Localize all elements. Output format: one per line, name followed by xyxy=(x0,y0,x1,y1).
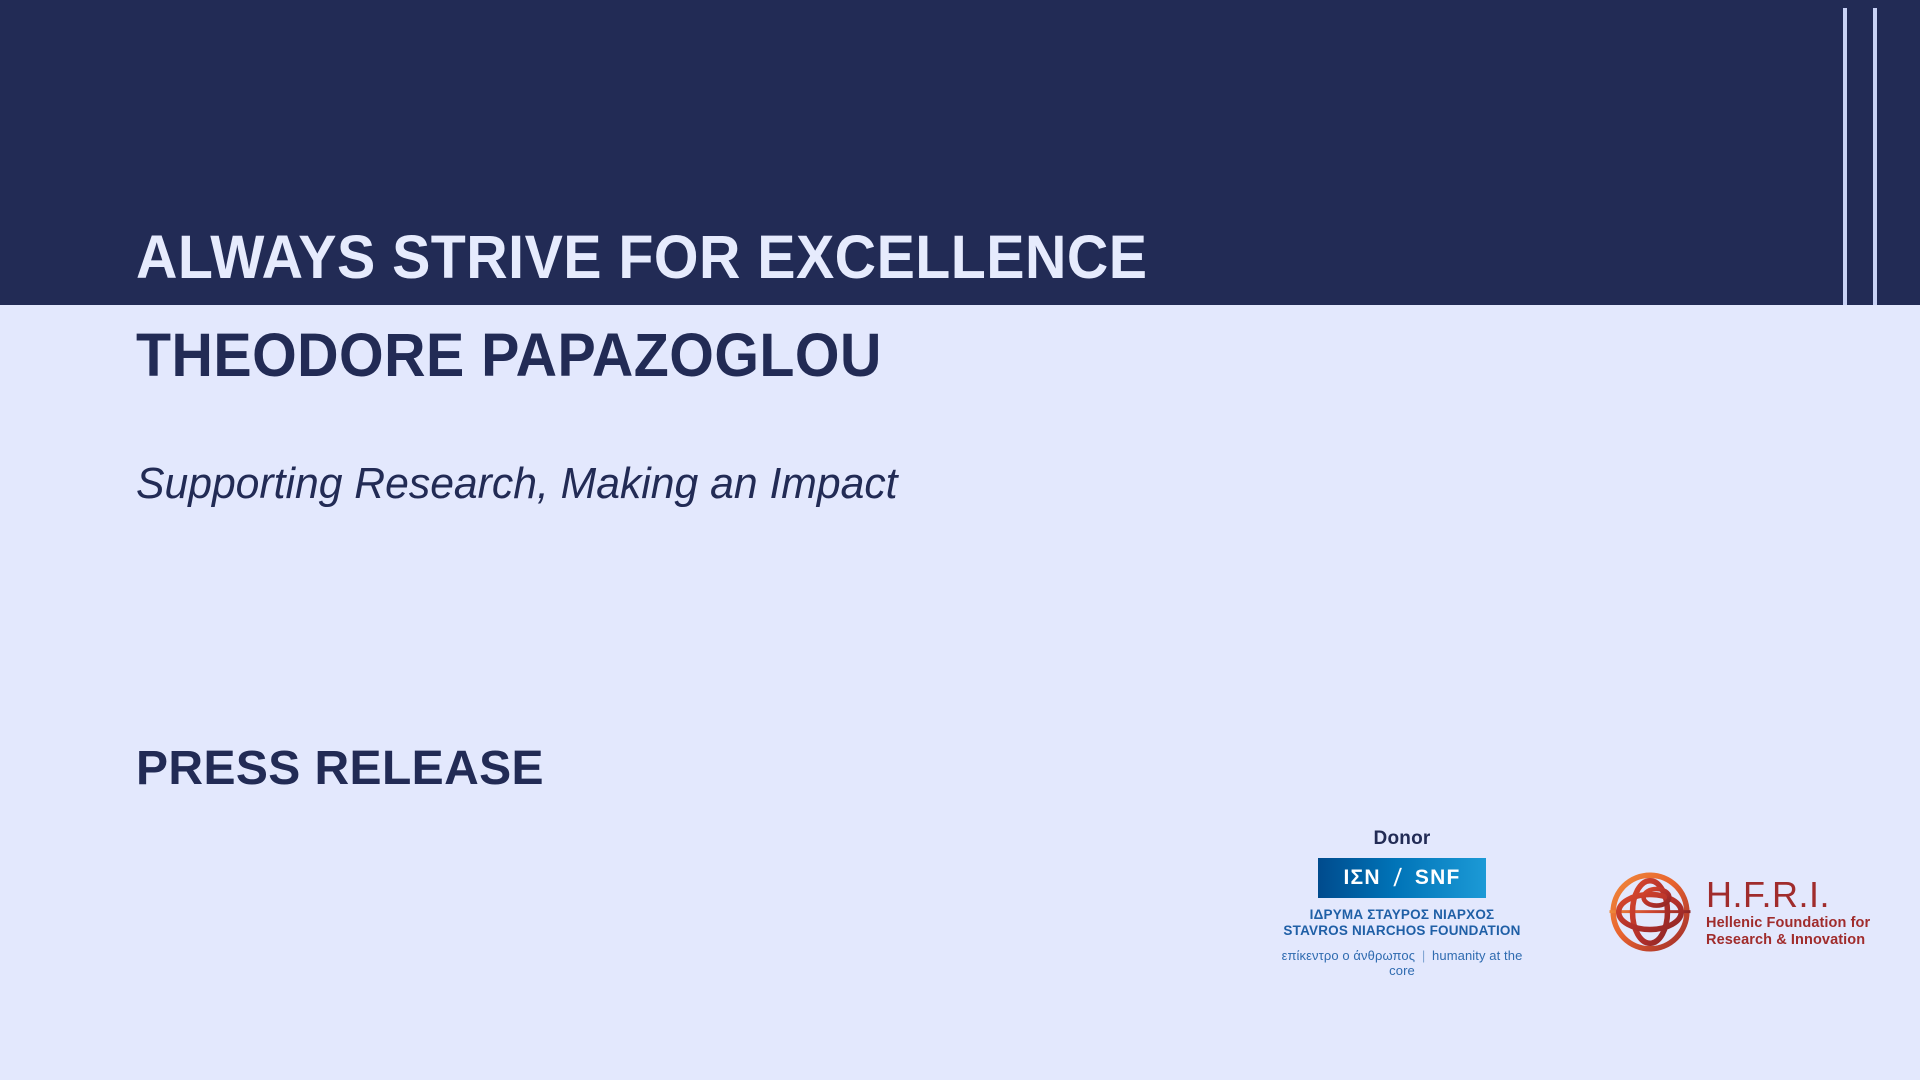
band-rule-second xyxy=(1873,8,1877,305)
page-title-line-2: THEODORE PAPAZOGLOU xyxy=(136,306,1452,404)
hfri-logo-block: H.F.R.I. Hellenic Foundation for Researc… xyxy=(1604,866,1870,958)
snf-badge-slash: / xyxy=(1392,864,1403,893)
hfri-acronym: H.F.R.I. xyxy=(1706,876,1870,914)
page-title: ALWAYS STRIVE FOR EXCELLENCE THEODORE PA… xyxy=(136,208,1536,404)
page-subtitle: Supporting Research, Making an Impact xyxy=(136,459,898,509)
hfri-subtitle: Hellenic Foundation for Research & Innov… xyxy=(1706,915,1870,949)
hfri-subtitle-line-2: Research & Innovation xyxy=(1706,932,1870,949)
globe-emblem-icon xyxy=(1604,866,1696,958)
snf-tagline: επίκεντρο ο άνθρωπος | humanity at the c… xyxy=(1268,948,1536,978)
press-release-slide: ALWAYS STRIVE FOR EXCELLENCE THEODORE PA… xyxy=(0,0,1920,1080)
snf-name-greek: ΙΔΡΥΜΑ ΣΤΑΥΡΟΣ ΝΙΑΡΧΟΣ xyxy=(1268,907,1536,923)
band-rule-first xyxy=(1843,8,1847,305)
snf-badge-greek-text: ΙΣΝ xyxy=(1344,866,1381,890)
snf-tagline-greek: επίκεντρο ο άνθρωπος xyxy=(1282,948,1416,963)
page-title-line-1: ALWAYS STRIVE FOR EXCELLENCE xyxy=(136,208,1452,306)
hfri-subtitle-line-1: Hellenic Foundation for xyxy=(1706,915,1870,932)
snf-foundation-name: ΙΔΡΥΜΑ ΣΤΑΥΡΟΣ ΝΙΑΡΧΟΣ STAVROS NIARCHOS … xyxy=(1268,907,1536,939)
snf-name-english: STAVROS NIARCHOS FOUNDATION xyxy=(1268,923,1536,939)
document-type-label: PRESS RELEASE xyxy=(136,741,544,796)
snf-tagline-separator: | xyxy=(1419,948,1428,963)
snf-badge-english-text: SNF xyxy=(1415,866,1461,890)
donor-label: Donor xyxy=(1268,828,1536,850)
snf-logo-badge: ΙΣΝ / SNF xyxy=(1318,858,1486,898)
hfri-text-lockup: H.F.R.I. Hellenic Foundation for Researc… xyxy=(1706,876,1870,949)
donor-logo-block: Donor ΙΣΝ / SNF ΙΔΡΥΜΑ ΣΤΑΥΡΟΣ ΝΙΑΡΧΟΣ S… xyxy=(1268,828,1536,978)
